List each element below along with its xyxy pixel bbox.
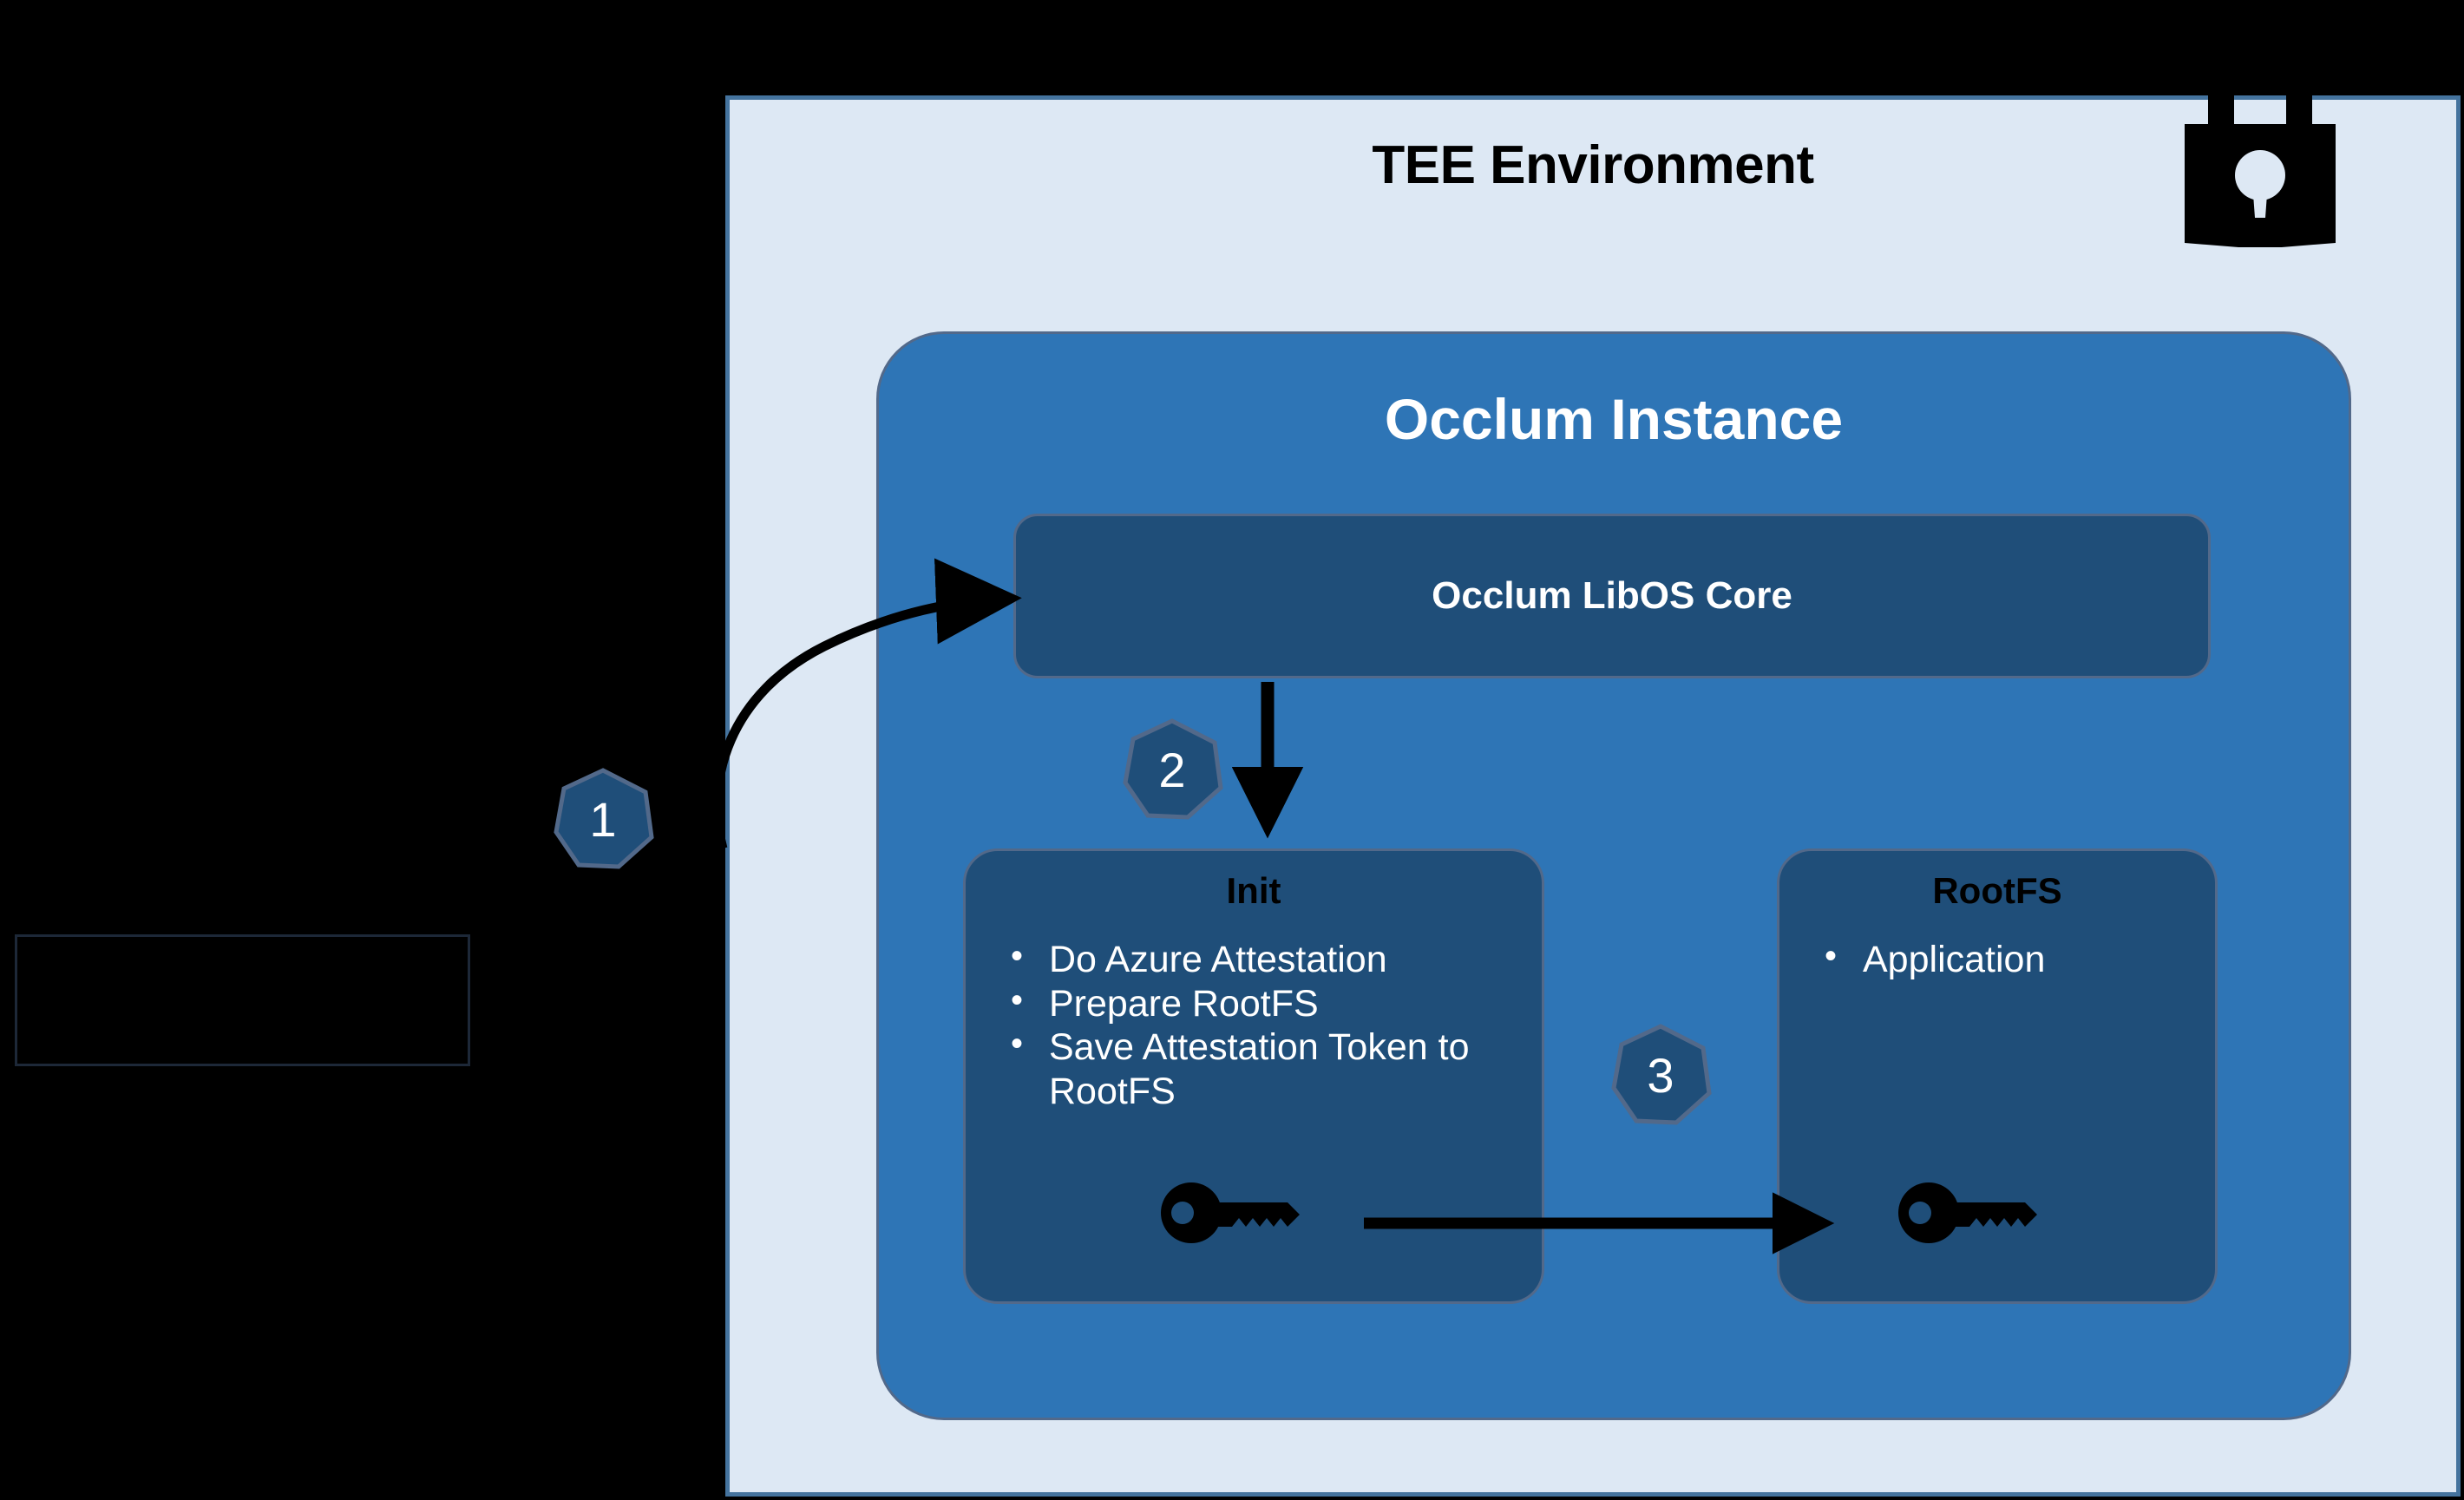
step-badge-3: 3 (1609, 1024, 1712, 1126)
diagram-canvas: TEE Environment Occlum Instance Occlum L… (0, 0, 2464, 1500)
left-placeholder-rectangle (15, 934, 470, 1066)
list-item: Prepare RootFS (995, 982, 1533, 1026)
step-badge-label: 1 (552, 768, 654, 870)
padlock-icon (2169, 48, 2351, 247)
list-item: Do Azure Attestation (995, 938, 1533, 982)
list-item: Save Attestation Token to RootFS (995, 1025, 1533, 1113)
step-badge-label: 3 (1609, 1024, 1712, 1126)
step-badge-1: 1 (552, 768, 654, 870)
occlum-libos-core-label: Occlum LibOS Core (1432, 574, 1792, 618)
list-item: Application (1809, 938, 2206, 982)
rootfs-title: RootFS (1779, 870, 2215, 912)
step-badge-2: 2 (1121, 718, 1223, 821)
step-badge-label: 2 (1121, 718, 1223, 821)
key-icon (1898, 1178, 2054, 1248)
rootfs-bullet-list: Application (1809, 938, 2206, 982)
init-bullet-list: Do Azure Attestation Prepare RootFS Save… (995, 938, 1533, 1114)
occlum-instance-title: Occlum Instance (879, 386, 2349, 452)
occlum-libos-core-box: Occlum LibOS Core (1013, 514, 2211, 678)
key-icon (1161, 1178, 1317, 1248)
init-title: Init (966, 870, 1542, 912)
